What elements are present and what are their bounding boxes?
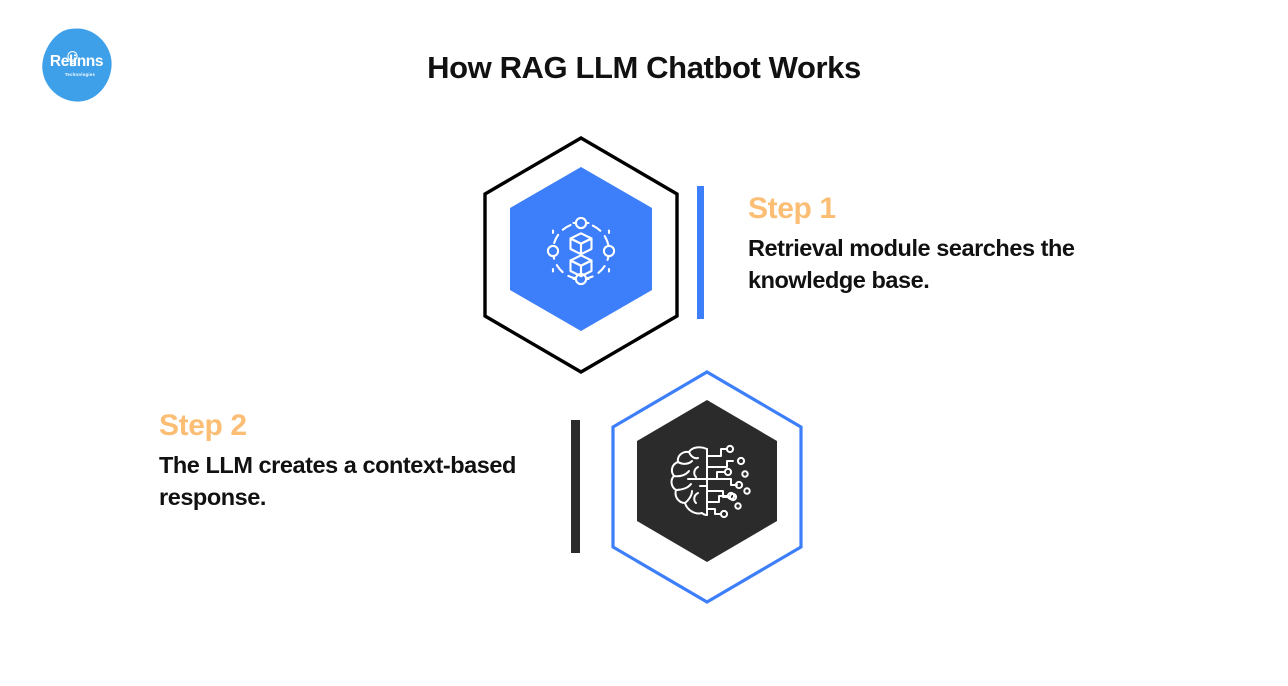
ai-brain-circuit-icon [662, 439, 752, 525]
knowledge-base-cubes-icon [543, 211, 619, 291]
infographic-canvas: Relinns Technologies How RAG LLM Chatbot… [0, 0, 1288, 686]
step-1-description: Retrieval module searches the knowledge … [748, 232, 1178, 297]
step-2-hexagon [598, 367, 816, 607]
step-1-accent-bar [697, 186, 704, 319]
step-2-label: Step 2 [159, 409, 559, 442]
step-1-text: Step 1 Retrieval module searches the kno… [748, 192, 1178, 297]
page-title: How RAG LLM Chatbot Works [0, 50, 1288, 86]
step-2-text: Step 2 The LLM creates a context-based r… [159, 409, 559, 514]
step-1-label: Step 1 [748, 192, 1178, 225]
step-1-hexagon [470, 133, 692, 377]
step-2-accent-bar [571, 420, 580, 553]
step-2-description: The LLM creates a context-based response… [159, 449, 559, 514]
